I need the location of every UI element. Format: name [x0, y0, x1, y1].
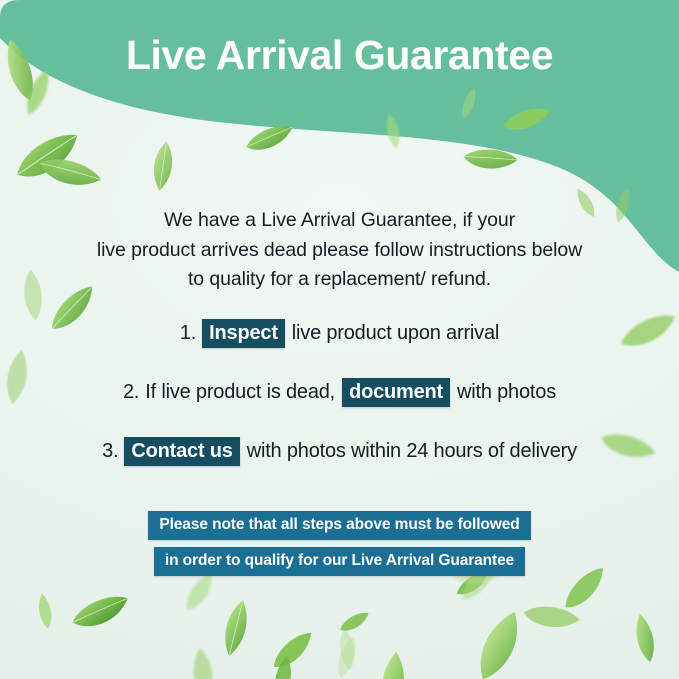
- intro-line-2: live product arrives dead please follow …: [62, 236, 617, 266]
- leaf-icon: [328, 631, 367, 679]
- leaf-icon: [183, 644, 223, 679]
- live-arrival-guarantee-poster: Live Arrival Guarantee We have a Live Ar…: [0, 0, 679, 679]
- leaf-icon: [517, 589, 585, 649]
- note-banner: Please note that all steps above must be…: [0, 511, 679, 576]
- page-title: Live Arrival Guarantee: [0, 33, 679, 78]
- step-item-3: 3. Contact us with photos within 24 hour…: [0, 437, 679, 466]
- note-line-2: in order to qualify for our Live Arrival…: [154, 547, 525, 576]
- step-text-after: live product upon arrival: [292, 321, 499, 346]
- intro-line-1: We have a Live Arrival Guarantee, if you…: [62, 206, 617, 236]
- leaf-icon: [211, 595, 260, 662]
- leaf-icon: [260, 619, 328, 679]
- step-highlight-inspect: Inspect: [202, 319, 285, 348]
- intro-paragraph: We have a Live Arrival Guarantee, if you…: [0, 206, 679, 295]
- step-highlight-contact-us: Contact us: [124, 437, 239, 466]
- steps-list: 1. Inspect live product upon arrival 2. …: [0, 319, 679, 466]
- leaf-icon: [264, 652, 302, 679]
- step-number: 1.: [180, 321, 196, 346]
- step-item-2: 2. If live product is dead, document wit…: [0, 378, 679, 407]
- leaf-icon: [625, 609, 665, 666]
- step-text-after: with photos within 24 hours of delivery: [247, 439, 577, 464]
- leaf-icon: [334, 605, 375, 642]
- step-highlight-document: document: [342, 378, 450, 407]
- leaf-icon: [66, 585, 137, 643]
- note-line-1: Please note that all steps above must be…: [148, 511, 530, 540]
- step-item-1: 1. Inspect live product upon arrival: [0, 319, 679, 348]
- main-content: We have a Live Arrival Guarantee, if you…: [0, 206, 679, 576]
- leaf-icon: [31, 590, 59, 631]
- step-text-before: If live product is dead,: [145, 380, 335, 405]
- intro-line-3: to quality for a replacement/ refund.: [62, 265, 617, 295]
- leaf-icon: [369, 648, 418, 679]
- step-text-after: with photos: [457, 380, 556, 405]
- step-number: 2.: [123, 380, 139, 405]
- leaf-icon: [331, 624, 363, 673]
- step-number: 3.: [102, 439, 118, 464]
- leaf-icon: [457, 603, 537, 679]
